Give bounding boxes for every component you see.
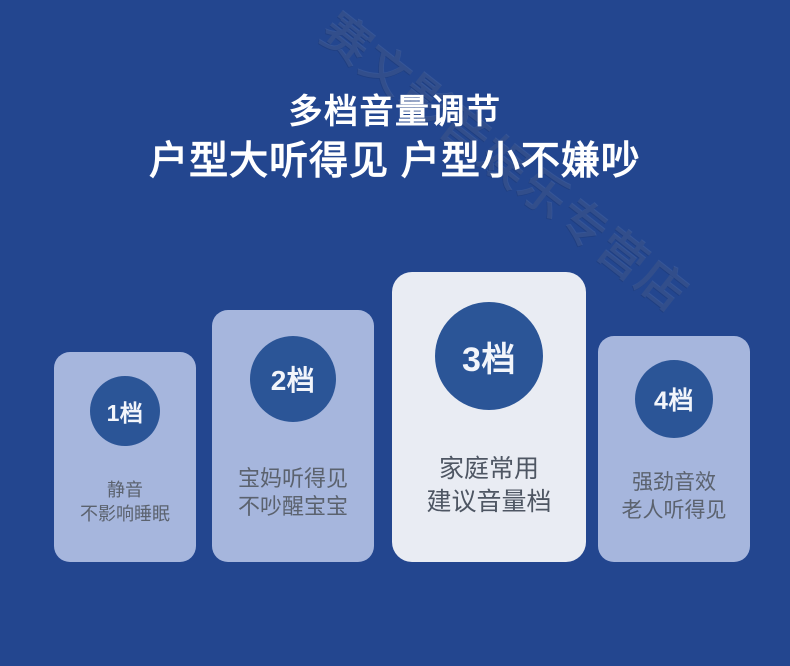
level-description-4-line-2: 老人听得见	[598, 497, 750, 524]
volume-card-level-3[interactable]: 3档 家庭常用 建议音量档	[392, 272, 586, 562]
level-description-3: 家庭常用 建议音量档	[392, 453, 586, 562]
level-description-3-line-2: 建议音量档	[392, 486, 586, 519]
level-description-4-line-1: 强劲音效	[598, 469, 750, 496]
level-badge-3: 3档	[435, 302, 543, 410]
level-description-3-line-1: 家庭常用	[392, 453, 586, 486]
level-description-4: 强劲音效 老人听得见	[598, 469, 750, 562]
headline-line-1: 多档音量调节	[0, 92, 790, 132]
level-badge-4: 4档	[635, 360, 713, 438]
level-badge-2: 2档	[250, 336, 336, 422]
level-description-1: 静音 不影响睡眠	[54, 479, 196, 562]
volume-card-level-1[interactable]: 1档 静音 不影响睡眠	[54, 352, 196, 562]
level-description-2: 宝妈听得见 不吵醒宝宝	[212, 465, 374, 562]
level-description-1-line-2: 不影响睡眠	[54, 503, 196, 526]
level-description-2-line-2: 不吵醒宝宝	[212, 493, 374, 522]
headline-block: 多档音量调节 户型大听得见 户型小不嫌吵	[0, 92, 790, 185]
volume-card-level-4[interactable]: 4档 强劲音效 老人听得见	[598, 336, 750, 562]
level-description-1-line-1: 静音	[54, 479, 196, 502]
volume-card-level-2[interactable]: 2档 宝妈听得见 不吵醒宝宝	[212, 310, 374, 562]
level-badge-1: 1档	[90, 376, 160, 446]
headline-line-2: 户型大听得见 户型小不嫌吵	[0, 139, 790, 185]
level-description-2-line-1: 宝妈听得见	[212, 465, 374, 494]
poster-canvas: 赛文影音娱乐专营店 多档音量调节 户型大听得见 户型小不嫌吵 1档 静音 不影响…	[0, 0, 790, 666]
